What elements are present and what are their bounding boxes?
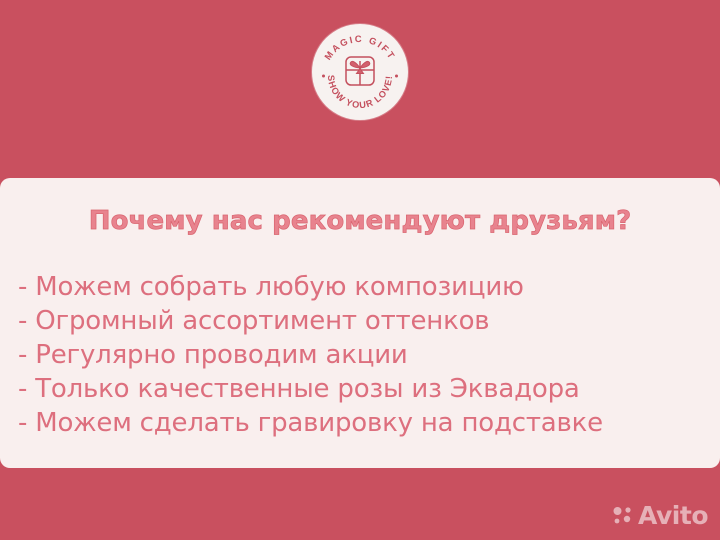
list-item: - Можем сделать гравировку на подставке	[18, 406, 708, 440]
page-title: Почему нас рекомендуют друзьям?	[0, 206, 720, 236]
logo-dot-right	[395, 75, 398, 78]
logo-dot-left	[322, 75, 325, 78]
avito-label: Avito	[638, 503, 708, 528]
promo-poster: MAGIC GIFT SHOW YOUR LOVE! Почему нас ре…	[0, 0, 720, 540]
gift-box-icon	[346, 57, 374, 85]
list-item: - Огромный ассортимент оттенков	[18, 304, 708, 338]
benefits-card: Почему нас рекомендуют друзьям? - Можем …	[0, 178, 720, 468]
list-item: - Только качественные розы из Эквадора	[18, 372, 708, 406]
list-item: - Регулярно проводим акции	[18, 338, 708, 372]
avito-watermark: Avito	[611, 503, 708, 528]
avito-dots-icon	[611, 504, 635, 528]
magic-gift-logo: MAGIC GIFT SHOW YOUR LOVE!	[312, 24, 408, 120]
list-item: - Можем собрать любую композицию	[18, 270, 708, 304]
benefits-list: - Можем собрать любую композицию - Огром…	[18, 270, 708, 440]
